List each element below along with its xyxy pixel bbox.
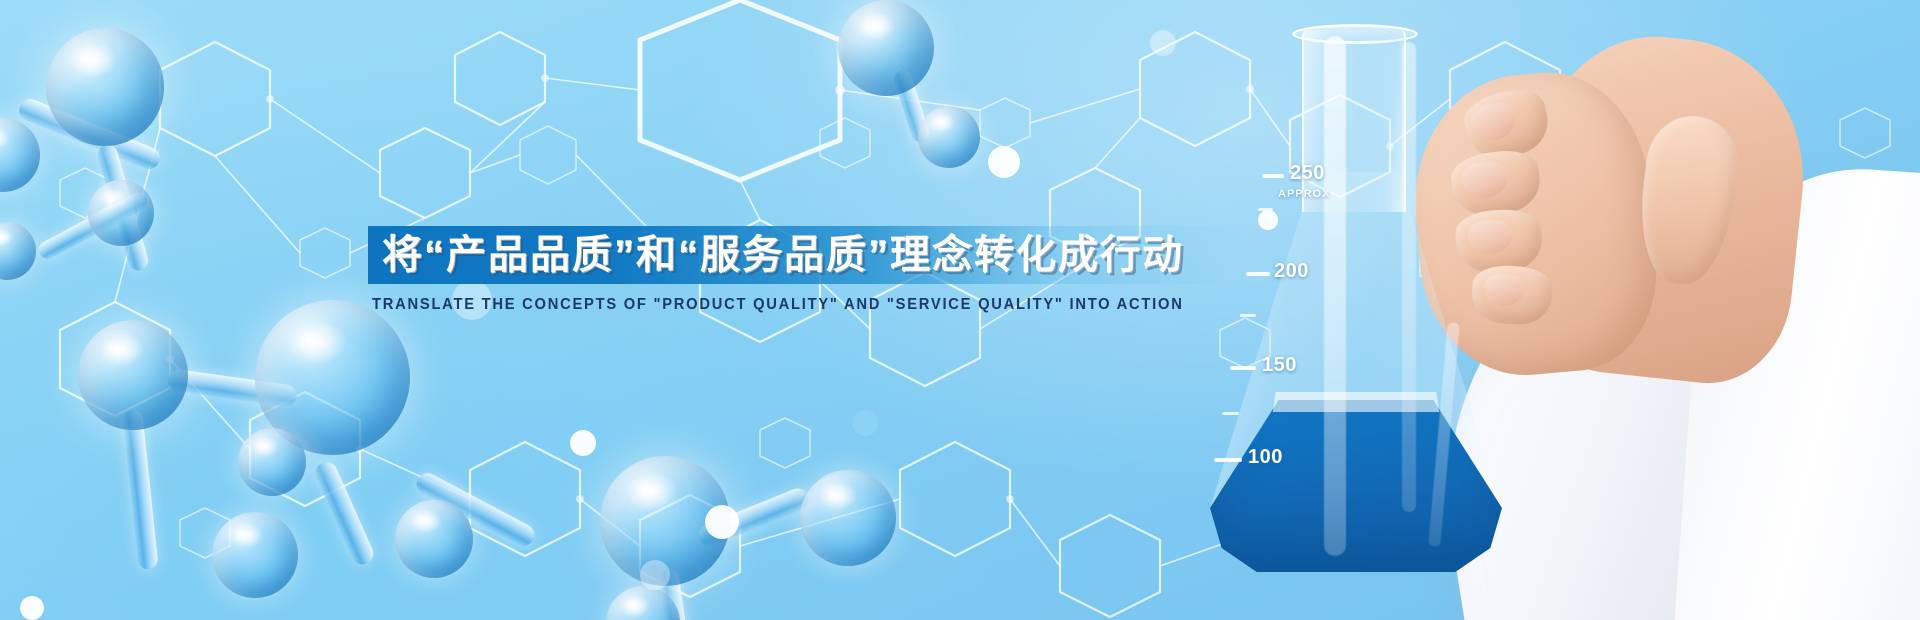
graduation-tick [1258, 208, 1273, 211]
molecule-bond [658, 569, 690, 620]
graduation-label-200: 200 [1274, 260, 1309, 283]
molecule-sphere-icon [918, 106, 980, 168]
glass-highlight [1428, 322, 1460, 547]
graduation-tick [1230, 366, 1256, 370]
bokeh-dot [705, 505, 739, 539]
lab-coat-sleeve-icon [1406, 172, 1920, 620]
bokeh-dot [1806, 408, 1830, 432]
graduation-tick [1222, 412, 1239, 415]
molecule-sphere-icon [395, 500, 473, 578]
hero-banner: 250 APPROX 200 150 100 将“产品品质”和“服务品质”理念转… [0, 0, 1920, 620]
molecule-bond [166, 368, 298, 408]
flask-rim [1292, 24, 1418, 44]
molecule-sphere-icon [255, 300, 410, 455]
fingernail [1460, 159, 1511, 201]
glass-highlight [1402, 42, 1416, 512]
palm [1404, 64, 1664, 383]
graduation-tick [1240, 314, 1256, 317]
flask-neck [1302, 30, 1406, 212]
bokeh-dot [852, 410, 878, 436]
graduation-tick [1262, 174, 1284, 178]
molecule-sphere-icon [606, 586, 680, 620]
bokeh-dot [640, 560, 670, 590]
page-subtitle: TRANSLATE THE CONCEPTS OF "PRODUCT QUALI… [372, 296, 1189, 314]
glass-highlight [1324, 36, 1346, 556]
fingernail [1483, 273, 1525, 307]
hand-holding-flask-icon: 250 APPROX 200 150 100 [1160, 0, 1920, 620]
wrist [1513, 25, 1817, 391]
bokeh-dot [1742, 330, 1772, 360]
molecule-sphere-icon [46, 28, 164, 146]
headline-bar: 将“产品品质”和“服务品质”理念转化成行动 [368, 226, 1228, 284]
bokeh-dot [570, 430, 596, 456]
molecule-sphere-icon [838, 0, 934, 96]
finger [1454, 208, 1543, 274]
bokeh-dot [332, 100, 354, 122]
molecule-sphere-icon [800, 470, 896, 566]
molecule-bond [891, 68, 931, 144]
lab-coat-sleeve-icon [1674, 158, 1920, 620]
molecule-bond [413, 469, 538, 549]
molecule-bond [312, 459, 377, 568]
molecule-sphere-icon [600, 456, 730, 586]
thumb [1632, 111, 1744, 289]
graduation-label-150: 150 [1262, 354, 1297, 377]
graduation-label-100: 100 [1248, 446, 1283, 469]
molecule-bond [16, 96, 163, 173]
bokeh-dot [1150, 30, 1176, 56]
page-title: 将“产品品质”和“服务品质”理念转化成行动 [368, 226, 1184, 284]
graduation-tick [1214, 458, 1242, 462]
molecule-sphere-icon [212, 512, 298, 598]
bokeh-dot [20, 596, 44, 620]
fingernail [1467, 219, 1513, 255]
banner-text-block: 将“产品品质”和“服务品质”理念转化成行动 TRANSLATE THE CONC… [0, 226, 1260, 314]
molecule-sphere-icon [238, 428, 306, 496]
graduation-label-approx: APPROX [1278, 188, 1330, 200]
finger [1471, 264, 1554, 326]
fingernail [1468, 99, 1519, 145]
molecule-sphere-icon [0, 118, 40, 192]
bokeh-dot [1258, 210, 1278, 230]
molecule-bond [696, 485, 812, 549]
finger [1448, 146, 1544, 220]
finger [1459, 83, 1554, 165]
bokeh-dot [988, 146, 1020, 178]
graduation-label-250: 250 [1290, 162, 1325, 185]
molecule-bond [122, 409, 159, 570]
molecule-sphere-icon [78, 320, 188, 430]
